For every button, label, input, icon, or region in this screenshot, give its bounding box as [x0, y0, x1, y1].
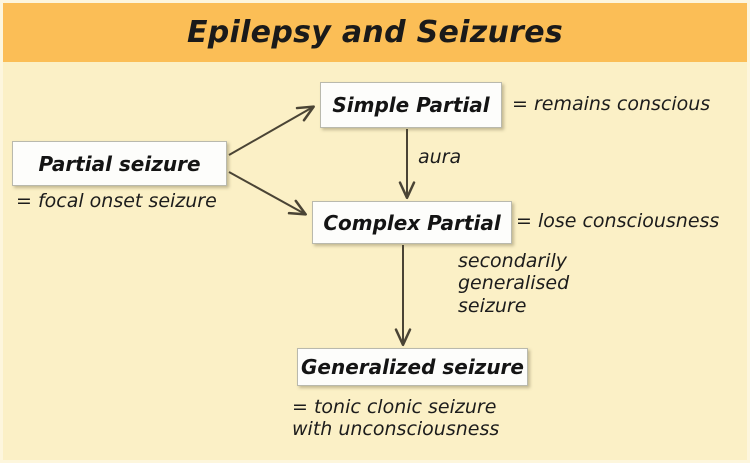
annotation-simple-definition: = remains conscious — [512, 93, 710, 115]
annotation-secondarily-line-1: secondarily — [458, 250, 569, 272]
annotation-aura-label: aura — [418, 146, 461, 168]
annotation-secondarily-line-2: generalised — [458, 272, 569, 294]
node-complex-partial-label: Complex Partial — [323, 211, 500, 235]
arrow-partial-to-complex — [229, 172, 305, 214]
node-generalized-seizure[interactable]: Generalized seizure — [297, 348, 528, 386]
annotation-generalized-definition: = tonic clonic seizure with unconsciousn… — [292, 396, 499, 441]
annotation-generalized-line-1: = tonic clonic seizure — [292, 396, 499, 418]
node-complex-partial[interactable]: Complex Partial — [312, 201, 512, 244]
node-simple-partial[interactable]: Simple Partial — [320, 82, 502, 128]
diagram-slide: Epilepsy and Seizures Partial seizure Si… — [0, 0, 750, 463]
annotation-complex-definition: = lose consciousness — [516, 210, 719, 232]
node-partial-seizure[interactable]: Partial seizure — [12, 141, 227, 186]
node-partial-seizure-label: Partial seizure — [38, 152, 200, 176]
arrow-partial-to-simple — [229, 107, 313, 155]
annotation-partial-definition: = focal onset seizure — [16, 190, 217, 212]
annotation-secondarily-line-3: seizure — [458, 295, 569, 317]
annotation-secondarily-generalised: secondarily generalised seizure — [458, 250, 569, 317]
node-simple-partial-label: Simple Partial — [332, 93, 489, 117]
node-generalized-seizure-label: Generalized seizure — [301, 355, 524, 379]
annotation-generalized-line-2: with unconsciousness — [292, 418, 499, 440]
